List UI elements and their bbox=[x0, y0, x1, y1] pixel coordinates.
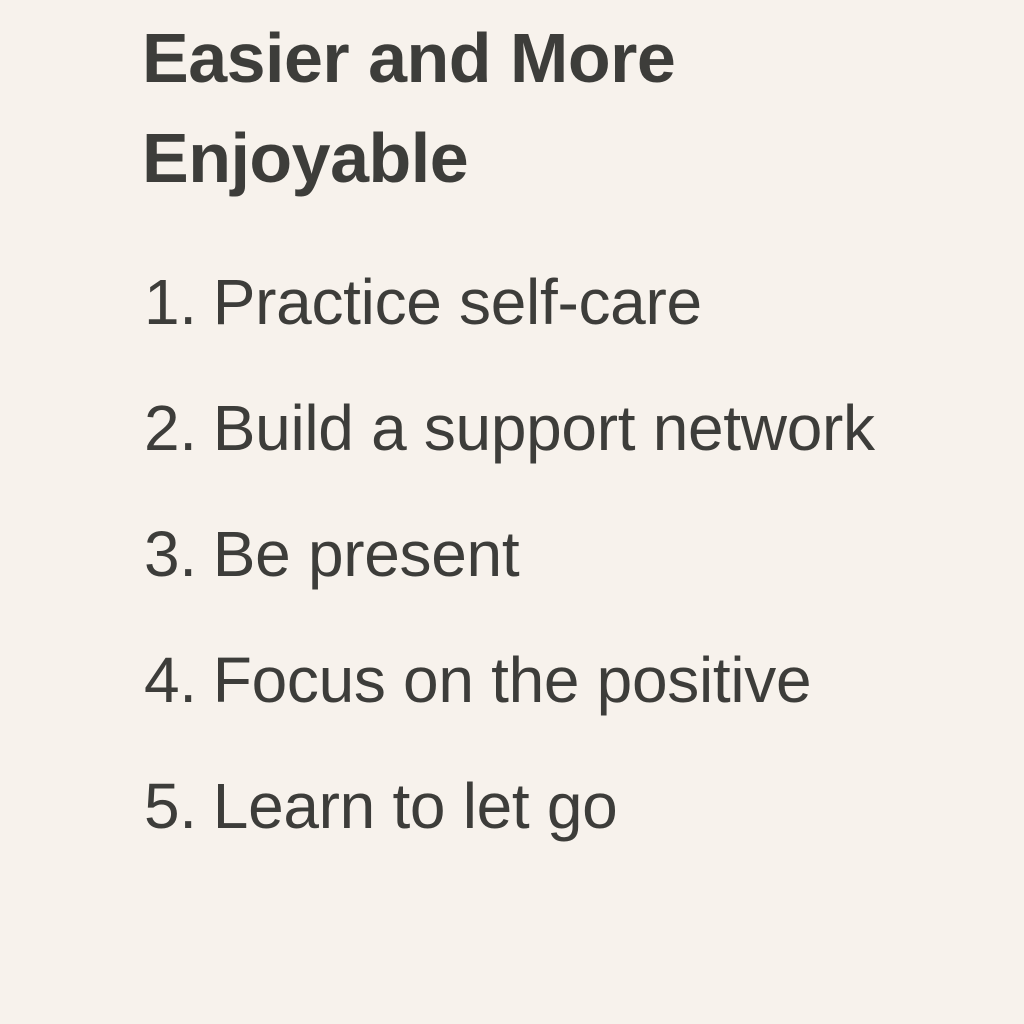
list-item: 1. Practice self-care bbox=[144, 268, 1004, 394]
list-item-number: 4. bbox=[144, 646, 197, 714]
list-item-label: Build a support network bbox=[213, 394, 875, 462]
list-item: 3. Be present bbox=[144, 520, 1004, 646]
list-item-number: 2. bbox=[144, 394, 197, 462]
list-item: 2. Build a support network bbox=[144, 394, 1004, 520]
list-item-label: Practice self-care bbox=[213, 268, 702, 336]
page-title: Easier and More Enjoyable bbox=[142, 8, 762, 208]
list-item-label: Focus on the positive bbox=[213, 646, 811, 714]
list-item-label: Learn to let go bbox=[213, 772, 618, 840]
list-item-number: 1. bbox=[144, 268, 197, 336]
list-item-number: 3. bbox=[144, 520, 197, 588]
tips-card: Easier and More Enjoyable 1. Practice se… bbox=[0, 0, 1024, 1024]
list-item-label: Be present bbox=[213, 520, 520, 588]
list-item: 4. Focus on the positive bbox=[144, 646, 1004, 772]
list-item-number: 5. bbox=[144, 772, 197, 840]
numbered-tips-list: 1. Practice self-care 2. Build a support… bbox=[144, 268, 1004, 898]
list-item: 5. Learn to let go bbox=[144, 772, 1004, 898]
